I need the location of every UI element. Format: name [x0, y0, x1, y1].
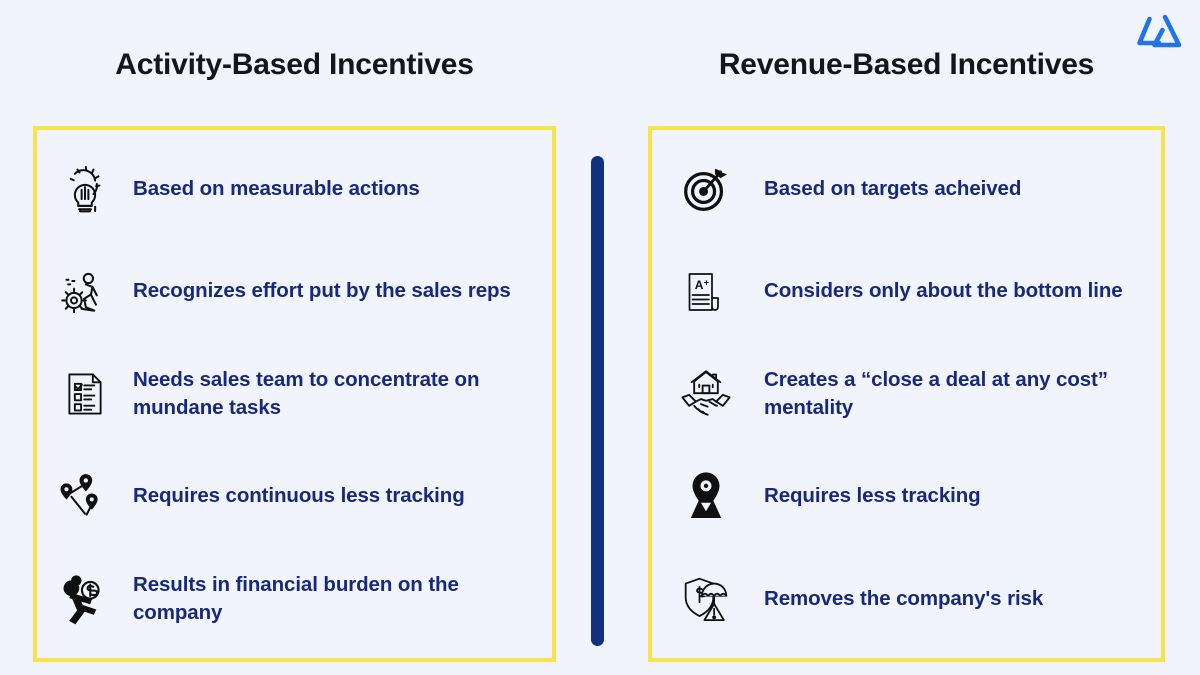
report-card-a-plus-icon: A +	[662, 257, 750, 327]
list-item: Creates a “close a deal at any cost” men…	[662, 343, 1147, 445]
person-carrying-money-burden-icon	[47, 564, 123, 634]
map-route-pins-icon	[47, 461, 123, 531]
person-pushing-gear-effort-icon	[47, 257, 123, 327]
list-item-label: Based on targets acheived	[764, 175, 1021, 203]
list-item-label: Requires continuous less tracking	[133, 482, 465, 510]
list-item: Needs sales team to concentrate on munda…	[47, 343, 538, 445]
svg-text:A: A	[695, 278, 704, 292]
shield-dollar-umbrella-risk-icon	[662, 564, 750, 634]
list-item-label: Results in financial burden on the compa…	[133, 571, 538, 628]
column-headings: Activity-Based Incentives Revenue-Based …	[0, 48, 1200, 96]
svg-text:+: +	[704, 277, 709, 287]
target-dart-bullseye-icon	[662, 154, 750, 224]
list-item-label: Creates a “close a deal at any cost” men…	[764, 366, 1147, 423]
list-item: A + Considers only about the bottom line	[662, 240, 1147, 342]
brand-logo	[1136, 12, 1182, 52]
list-item: Requires continuous less tracking	[47, 445, 538, 547]
list-item-label: Based on measurable actions	[133, 175, 420, 203]
lightbulb-gear-idea-icon	[47, 154, 123, 224]
list-item: Requires less tracking	[662, 445, 1147, 547]
list-item-label: Recognizes effort put by the sales reps	[133, 277, 511, 305]
list-item: Results in financial burden on the compa…	[47, 548, 538, 650]
page-title-revenue-based: Revenue-Based Incentives	[648, 48, 1165, 82]
list-item-label: Considers only about the bottom line	[764, 277, 1123, 305]
center-divider-bar	[591, 156, 604, 646]
page-title-activity-based: Activity-Based Incentives	[33, 48, 556, 82]
list-item: Based on targets acheived	[662, 138, 1147, 240]
list-item: Based on measurable actions	[47, 138, 538, 240]
list-item-label: Removes the company's risk	[764, 585, 1043, 613]
handshake-house-deal-icon	[662, 359, 750, 429]
location-pin-map-icon	[662, 461, 750, 531]
checklist-document-icon	[47, 359, 123, 429]
list-item: Removes the company's risk	[662, 548, 1147, 650]
mountain-peaks-logo-icon	[1140, 17, 1180, 45]
list-item-label: Requires less tracking	[764, 482, 981, 510]
panel-activity-based: Based on measurable actions Recognizes e…	[33, 126, 556, 662]
panel-revenue-based: Based on targets acheived A + Considers …	[648, 126, 1165, 662]
list-item-label: Needs sales team to concentrate on munda…	[133, 366, 538, 423]
list-item: Recognizes effort put by the sales reps	[47, 240, 538, 342]
